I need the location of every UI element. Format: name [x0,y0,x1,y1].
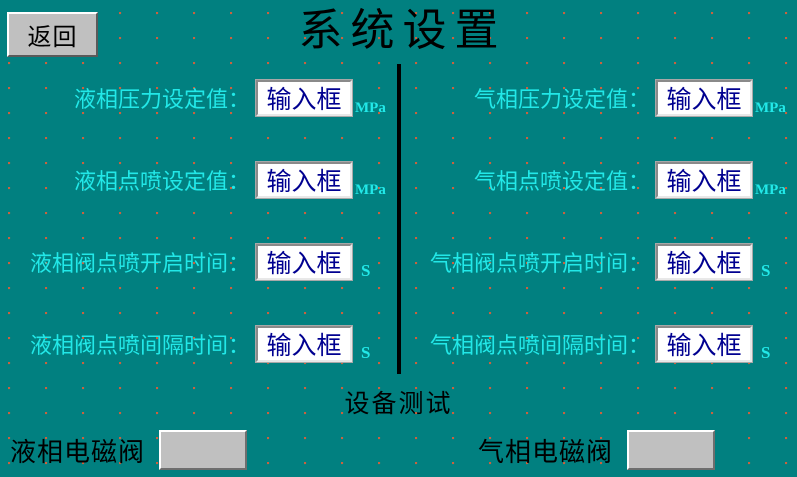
field-label-liquid-valve-interval-time: 液相阀点喷间隔时间： [0,328,250,360]
field-row-gas-valve-interval-time: 气相阀点喷间隔时间： 输入框 S [404,324,797,364]
field-row-gas-pressure-setpoint: 气相压力设定值： 输入框 MPa [404,78,797,118]
valve-group-gas: 气相电磁阀 [478,428,715,472]
valve-indicator-liquid[interactable] [159,430,247,470]
valve-group-liquid: 液相电磁阀 [10,428,247,472]
page-title: 系统设置 [0,5,797,57]
unit-liquid-pressure-setpoint: MPa [355,100,386,117]
field-row-gas-spot-spray-setpoint: 气相点喷设定值： 输入框 MPa [404,160,797,200]
field-label-liquid-pressure-setpoint: 液相压力设定值： [0,82,250,114]
valve-label-liquid: 液相电磁阀 [10,432,145,469]
field-row-liquid-spot-spray-setpoint: 液相点喷设定值： 输入框 MPa [0,160,390,200]
unit-liquid-spot-spray-setpoint: MPa [355,182,386,199]
field-row-liquid-valve-open-time: 液相阀点喷开启时间： 输入框 S [0,242,390,282]
field-row-liquid-pressure-setpoint: 液相压力设定值： 输入框 MPa [0,78,390,118]
unit-gas-spot-spray-setpoint: MPa [755,182,786,199]
system-settings-screen: 返回 系统设置 液相压力设定值： 输入框 MPa 液相点喷设定值： 输入框 MP… [0,0,797,477]
field-row-liquid-valve-interval-time: 液相阀点喷间隔时间： 输入框 S [0,324,390,364]
field-label-gas-valve-open-time: 气相阀点喷开启时间： [404,246,650,278]
unit-gas-valve-open-time: S [761,261,770,281]
unit-gas-valve-interval-time: S [761,343,770,363]
input-gas-valve-interval-time[interactable]: 输入框 [656,326,752,362]
input-gas-valve-open-time[interactable]: 输入框 [656,244,752,280]
field-row-gas-valve-open-time: 气相阀点喷开启时间： 输入框 S [404,242,797,282]
unit-liquid-valve-open-time: S [361,261,370,281]
input-liquid-spot-spray-setpoint[interactable]: 输入框 [256,162,352,198]
field-label-liquid-spot-spray-setpoint: 液相点喷设定值： [0,164,250,196]
field-label-liquid-valve-open-time: 液相阀点喷开启时间： [0,246,250,278]
input-liquid-valve-open-time[interactable]: 输入框 [256,244,352,280]
input-liquid-pressure-setpoint[interactable]: 输入框 [256,80,352,116]
unit-gas-pressure-setpoint: MPa [755,100,786,117]
input-liquid-valve-interval-time[interactable]: 输入框 [256,326,352,362]
field-label-gas-spot-spray-setpoint: 气相点喷设定值： [404,164,650,196]
input-gas-spot-spray-setpoint[interactable]: 输入框 [656,162,752,198]
input-gas-pressure-setpoint[interactable]: 输入框 [656,80,752,116]
column-divider [397,64,401,374]
valve-label-gas: 气相电磁阀 [478,432,613,469]
unit-liquid-valve-interval-time: S [361,343,370,363]
valve-indicator-gas[interactable] [627,430,715,470]
field-label-gas-pressure-setpoint: 气相压力设定值： [404,82,650,114]
equipment-test-title: 设备测试 [0,384,797,420]
field-label-gas-valve-interval-time: 气相阀点喷间隔时间： [404,328,650,360]
